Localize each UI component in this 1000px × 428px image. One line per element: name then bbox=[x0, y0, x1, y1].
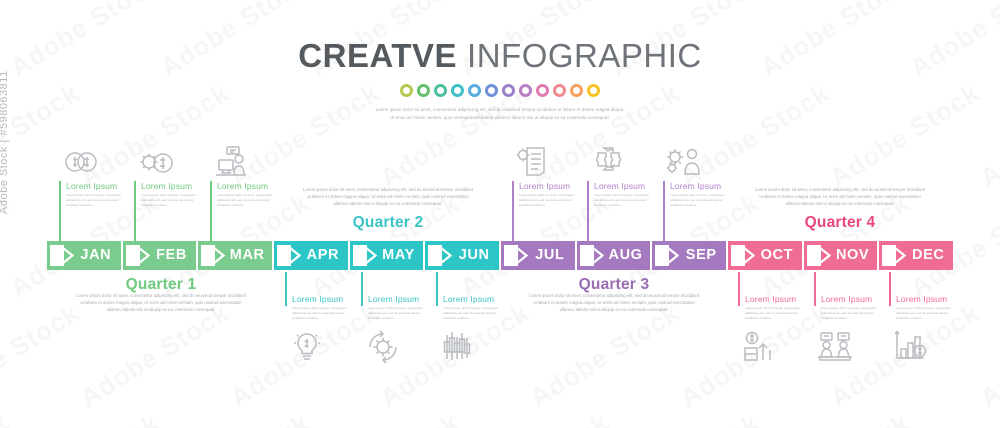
header-subtitle-line-1: Lorem ipsum dolor sit amet, consectetur … bbox=[0, 106, 1000, 114]
quarter-description-2: Lorem ipsum dolor sit amet, consectetur … bbox=[288, 186, 488, 208]
item-connector-line bbox=[436, 272, 438, 306]
month-label: DEC bbox=[907, 241, 953, 270]
watermark-tile: Adobe Stock bbox=[605, 407, 766, 428]
timeline-item-2[interactable]: Lorem IpsumLorem ipsum dolor sit amet, c… bbox=[134, 143, 212, 208]
color-dot bbox=[400, 84, 413, 97]
month-chevron-group bbox=[274, 241, 302, 270]
watermark-tile: Adobe Stock bbox=[755, 407, 916, 428]
item-connector-line bbox=[59, 181, 61, 241]
timeline-item-1[interactable]: Lorem IpsumLorem ipsum dolor sit amet, c… bbox=[59, 143, 137, 208]
month-chevron-group bbox=[804, 241, 832, 270]
item-description: Lorem ipsum dolor sit amet, consectetur … bbox=[66, 193, 128, 208]
item-description: Lorem ipsum dolor sit amet, consectetur … bbox=[896, 306, 958, 321]
color-dot bbox=[536, 84, 549, 97]
quarter-description-line: Lorem ipsum dolor sit amet, consectetur … bbox=[288, 186, 488, 193]
item-description: Lorem ipsum dolor sit amet, consectetur … bbox=[141, 193, 203, 208]
gear-dollar-icon bbox=[136, 143, 176, 179]
item-connector-line bbox=[512, 181, 514, 241]
timeline-month-aug[interactable]: AUG bbox=[577, 241, 651, 270]
quarter-description-line: ullamco laboris nisi ut aliquip ex ea co… bbox=[61, 306, 261, 313]
item-description: Lorem ipsum dolor sit amet, consectetur … bbox=[217, 193, 279, 208]
chevron-right-icon bbox=[513, 245, 528, 266]
item-title: Lorem Ipsum bbox=[443, 294, 514, 304]
month-chevron-group bbox=[350, 241, 378, 270]
timeline-month-apr[interactable]: APR bbox=[274, 241, 348, 270]
month-label: MAR bbox=[226, 241, 272, 270]
chevron-right-icon bbox=[135, 245, 150, 266]
timeline-item-7[interactable]: Lorem IpsumLorem ipsum dolor sit amet, c… bbox=[512, 143, 590, 208]
timeline-item-9[interactable]: Lorem IpsumLorem ipsum dolor sit amet, c… bbox=[663, 143, 741, 208]
title-light: INFOGRAPHIC bbox=[467, 37, 702, 74]
month-chevron-group bbox=[123, 241, 151, 270]
timeline-month-sep[interactable]: SEP bbox=[652, 241, 726, 270]
month-label: JUN bbox=[453, 241, 499, 270]
timeline-item-3[interactable]: Lorem IpsumLorem ipsum dolor sit amet, c… bbox=[210, 143, 288, 208]
item-title: Lorem Ipsum bbox=[368, 294, 439, 304]
item-connector-line bbox=[889, 272, 891, 306]
month-label: SEP bbox=[680, 241, 726, 270]
month-chevron-group bbox=[501, 241, 529, 270]
item-description: Lorem ipsum dolor sit amet, consectetur … bbox=[821, 306, 883, 321]
item-title: Lorem Ipsum bbox=[66, 181, 137, 191]
header-subtitle: Lorem ipsum dolor sit amet, consectetur … bbox=[0, 106, 1000, 121]
chevron-right-icon bbox=[589, 245, 604, 266]
quarter-label-2: Quarter 2 bbox=[298, 214, 478, 232]
chevron-right-icon bbox=[891, 245, 906, 266]
candlestick-chart-icon bbox=[438, 328, 478, 364]
color-dot bbox=[553, 84, 566, 97]
chevron-right-icon bbox=[59, 245, 74, 266]
quarter-description-line: ut labore et dolore magna aliqua. Ut eni… bbox=[740, 193, 940, 200]
document-checklist-icon bbox=[514, 143, 554, 179]
month-label: APR bbox=[302, 241, 348, 270]
watermark-tile: Adobe Stock bbox=[975, 297, 1000, 413]
color-dot bbox=[468, 84, 481, 97]
timeline-item-11[interactable]: Lorem IpsumLorem ipsum dolor sit amet, c… bbox=[814, 272, 892, 321]
month-chevron-group bbox=[577, 241, 605, 270]
item-connector-line bbox=[210, 181, 212, 241]
chevron-right-icon bbox=[362, 245, 377, 266]
item-description: Lorem ipsum dolor sit amet, consectetur … bbox=[368, 306, 430, 321]
month-chevron-group bbox=[879, 241, 907, 270]
month-chevron-group bbox=[47, 241, 75, 270]
quarter-description-1: Lorem ipsum dolor sit amet, consectetur … bbox=[61, 292, 261, 314]
watermark-tile: Adobe Stock bbox=[155, 407, 316, 428]
item-title: Lorem Ipsum bbox=[594, 181, 665, 191]
timeline-month-nov[interactable]: NOV bbox=[804, 241, 878, 270]
color-dot bbox=[519, 84, 532, 97]
quarter-description-line: ut labore et dolore magna aliqua. Ut eni… bbox=[514, 299, 714, 306]
watermark-tile: Adobe Stock bbox=[75, 297, 236, 413]
chevron-right-icon bbox=[286, 245, 301, 266]
month-chevron-group bbox=[652, 241, 680, 270]
lightbulb-dollar-icon bbox=[287, 328, 327, 364]
quarter-description-line: Lorem ipsum dolor sit amet, consectetur … bbox=[740, 186, 940, 193]
month-chevron-group bbox=[728, 241, 756, 270]
timeline-item-8[interactable]: Lorem IpsumLorem ipsum dolor sit amet, c… bbox=[587, 143, 665, 208]
item-connector-line bbox=[814, 272, 816, 306]
timeline-item-4[interactable]: Lorem IpsumLorem ipsum dolor sit amet, c… bbox=[285, 272, 363, 321]
quarter-description-line: ut labore et dolore magna aliqua. Ut eni… bbox=[61, 299, 261, 306]
color-dot bbox=[451, 84, 464, 97]
quarter-description-line: Lorem ipsum dolor sit amet, consectetur … bbox=[514, 292, 714, 299]
timeline-month-dec[interactable]: DEC bbox=[879, 241, 953, 270]
watermark-tile: Adobe Stock bbox=[905, 407, 1000, 428]
quarter-label-4: Quarter 4 bbox=[750, 214, 930, 232]
month-chevron-group bbox=[198, 241, 226, 270]
month-label: OCT bbox=[756, 241, 802, 270]
month-chevron-group bbox=[425, 241, 453, 270]
currency-exchange-icon bbox=[61, 143, 101, 179]
chevron-right-icon bbox=[816, 245, 831, 266]
item-title: Lorem Ipsum bbox=[745, 294, 816, 304]
item-title: Lorem Ipsum bbox=[821, 294, 892, 304]
timeline-month-jun[interactable]: JUN bbox=[425, 241, 499, 270]
quarter-description-line: ullamco laboris nisi ut aliquip ex ea co… bbox=[288, 200, 488, 207]
item-connector-line bbox=[663, 181, 665, 241]
chevron-right-icon bbox=[210, 245, 225, 266]
color-dot bbox=[485, 84, 498, 97]
item-connector-line bbox=[361, 272, 363, 306]
item-connector-line bbox=[587, 181, 589, 241]
watermark-tile: Adobe Stock bbox=[525, 297, 686, 413]
timeline-item-10[interactable]: Lorem IpsumLorem ipsum dolor sit amet, c… bbox=[738, 272, 816, 321]
month-label: JAN bbox=[75, 241, 121, 270]
quarter-description-line: Lorem ipsum dolor sit amet, consectetur … bbox=[61, 292, 261, 299]
item-title: Lorem Ipsum bbox=[896, 294, 967, 304]
person-gears-icon bbox=[665, 143, 705, 179]
person-computer-icon bbox=[212, 143, 252, 179]
bar-chart-coin-icon bbox=[891, 328, 931, 364]
chevron-right-icon bbox=[740, 245, 755, 266]
gear-refresh-icon bbox=[363, 328, 403, 364]
item-description: Lorem ipsum dolor sit amet, consectetur … bbox=[745, 306, 807, 321]
watermark-tile: Adobe Stock bbox=[0, 297, 85, 413]
item-title: Lorem Ipsum bbox=[141, 181, 212, 191]
item-description: Lorem ipsum dolor sit amet, consectetur … bbox=[292, 306, 354, 321]
timeline-month-mar[interactable]: MAR bbox=[198, 241, 272, 270]
timeline-month-jul[interactable]: JUL bbox=[501, 241, 575, 270]
chevron-right-icon bbox=[664, 245, 679, 266]
timeline-bar: JANFEBMARAPRMAYJUNJULAUGSEPOCTNOVDEC bbox=[47, 241, 953, 270]
watermark-tile: Adobe Stock bbox=[0, 407, 15, 428]
item-title: Lorem Ipsum bbox=[292, 294, 363, 304]
item-description: Lorem ipsum dolor sit amet, consectetur … bbox=[519, 193, 581, 208]
timeline-month-oct[interactable]: OCT bbox=[728, 241, 802, 270]
month-label: AUG bbox=[605, 241, 651, 270]
chevron-right-icon bbox=[437, 245, 452, 266]
quarter-description-line: ullamco laboris nisi ut aliquip ex ea co… bbox=[514, 306, 714, 313]
item-description: Lorem ipsum dolor sit amet, consectetur … bbox=[594, 193, 656, 208]
color-dot bbox=[502, 84, 515, 97]
timeline-month-may[interactable]: MAY bbox=[350, 241, 424, 270]
item-connector-line bbox=[285, 272, 287, 306]
month-label: FEB bbox=[151, 241, 197, 270]
quarter-description-line: ut labore et dolore magna aliqua. Ut eni… bbox=[288, 193, 488, 200]
timeline-item-5[interactable]: Lorem IpsumLorem ipsum dolor sit amet, c… bbox=[361, 272, 439, 321]
color-dot bbox=[417, 84, 430, 97]
page-title: CREATVEINFOGRAPHIC bbox=[0, 36, 1000, 76]
timeline-item-6[interactable]: Lorem IpsumLorem ipsum dolor sit amet, c… bbox=[436, 272, 514, 321]
watermark-tile: Adobe Stock bbox=[5, 407, 166, 428]
team-podium-icon bbox=[816, 328, 856, 364]
timeline-month-jan[interactable]: JAN bbox=[47, 241, 121, 270]
item-title: Lorem Ipsum bbox=[217, 181, 288, 191]
color-dots-row bbox=[0, 84, 1000, 97]
month-label: NOV bbox=[832, 241, 878, 270]
quarter-description-line: ullamco laboris nisi ut aliquip ex ea co… bbox=[740, 200, 940, 207]
color-dot bbox=[587, 84, 600, 97]
title-bold: CREATVE bbox=[298, 37, 457, 74]
header-subtitle-line-2: Ut enim ad minim veniam, quis nostrud ex… bbox=[0, 114, 1000, 122]
header: CREATVEINFOGRAPHIC Lorem ipsum dolor sit… bbox=[0, 36, 1000, 121]
item-connector-line bbox=[738, 272, 740, 306]
quarter-description-4: Lorem ipsum dolor sit amet, consectetur … bbox=[740, 186, 940, 208]
item-title: Lorem Ipsum bbox=[670, 181, 741, 191]
color-dot bbox=[434, 84, 447, 97]
watermark-tile: Adobe Stock bbox=[305, 407, 466, 428]
person-money-growth-icon bbox=[740, 328, 780, 364]
month-label: MAY bbox=[378, 241, 424, 270]
infographic-canvas: Adobe StockAdobe StockAdobe StockAdobe S… bbox=[0, 0, 1000, 428]
item-description: Lorem ipsum dolor sit amet, consectetur … bbox=[670, 193, 732, 208]
color-dot bbox=[570, 84, 583, 97]
puzzle-pieces-icon bbox=[589, 143, 629, 179]
timeline-month-feb[interactable]: FEB bbox=[123, 241, 197, 270]
watermark-tile: Adobe Stock bbox=[455, 407, 616, 428]
month-label: JUL bbox=[529, 241, 575, 270]
item-title: Lorem Ipsum bbox=[519, 181, 590, 191]
item-connector-line bbox=[134, 181, 136, 241]
quarter-description-3: Lorem ipsum dolor sit amet, consectetur … bbox=[514, 292, 714, 314]
timeline-item-12[interactable]: Lorem IpsumLorem ipsum dolor sit amet, c… bbox=[889, 272, 967, 321]
item-description: Lorem ipsum dolor sit amet, consectetur … bbox=[443, 306, 505, 321]
